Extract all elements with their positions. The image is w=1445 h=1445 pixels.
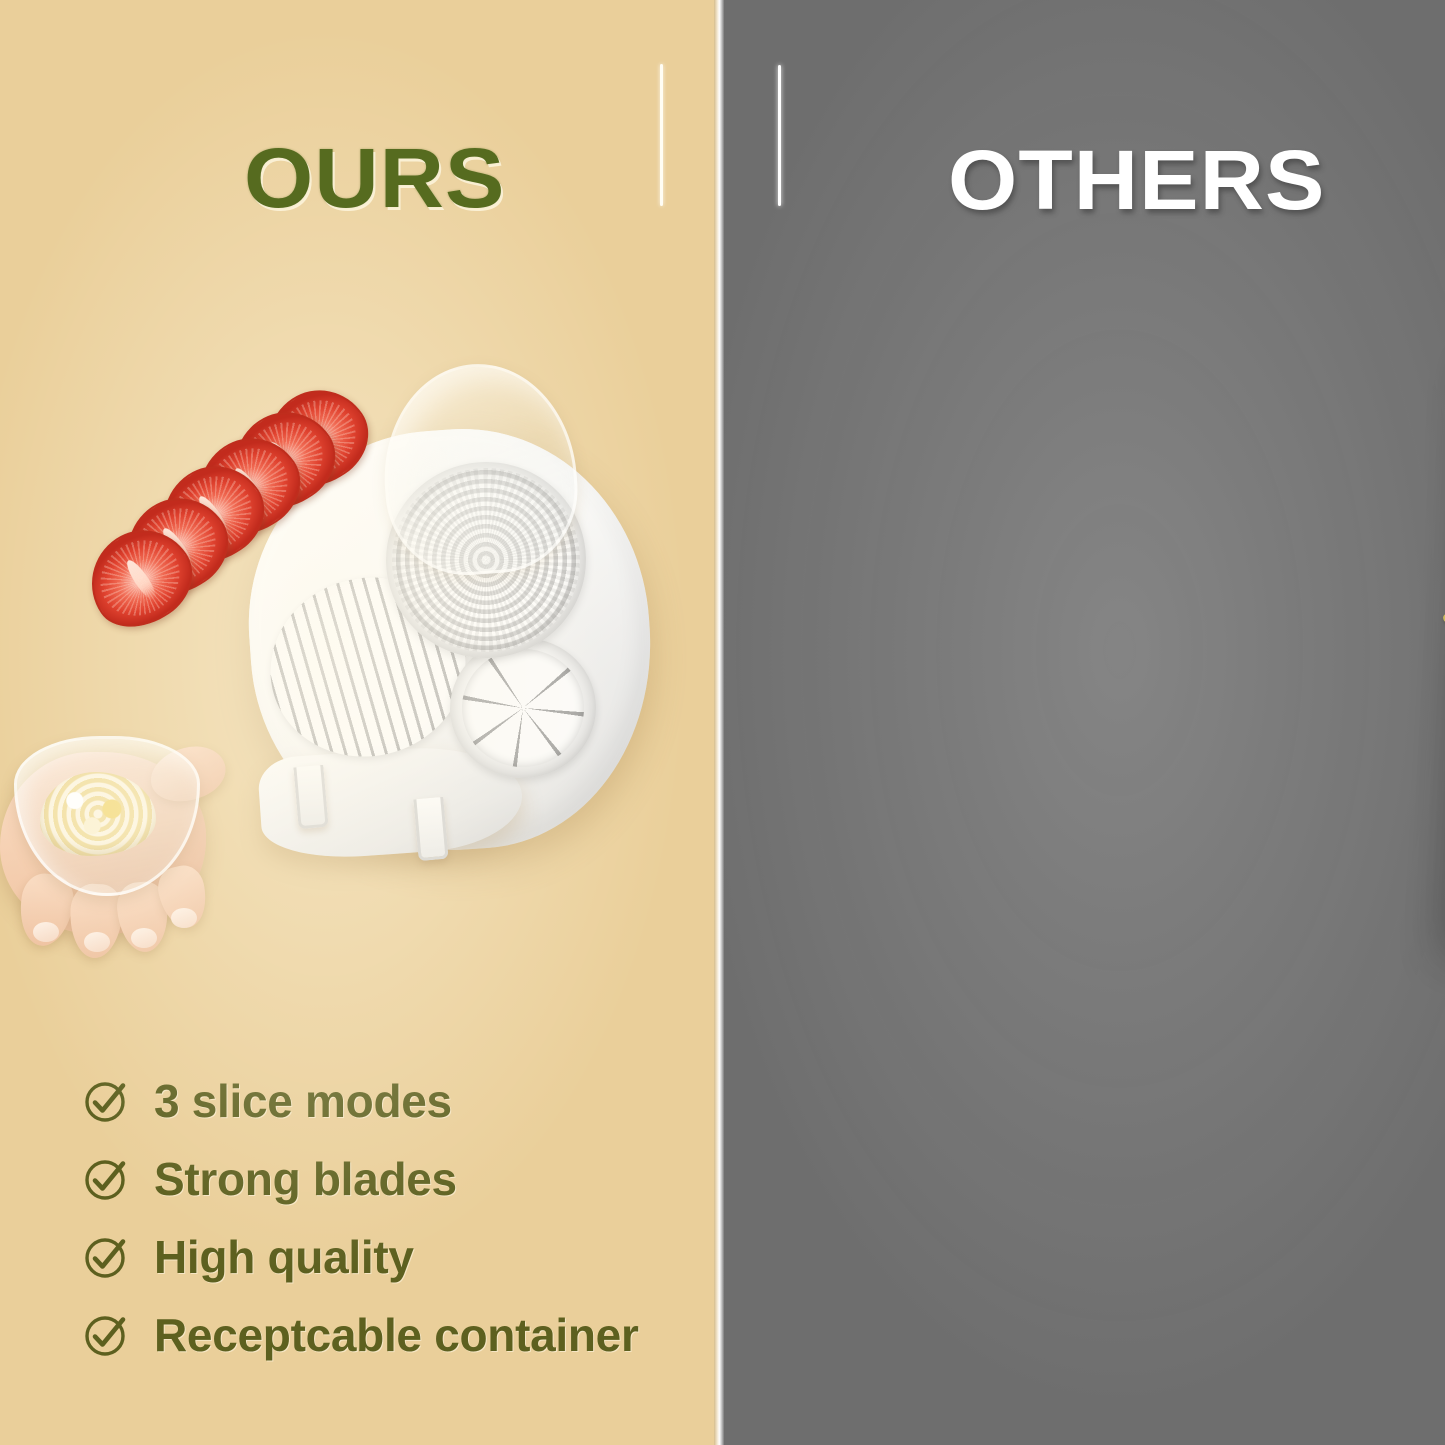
slicer-clip	[413, 797, 448, 861]
fingernail	[84, 932, 110, 952]
hand-holding-bowl	[0, 726, 240, 958]
check-circle-icon	[82, 1312, 128, 1358]
ours-feature-list: 3 slice modes Strong blades High quality	[82, 1062, 639, 1374]
clear-dome-cover	[377, 358, 583, 581]
feature-label: 3 slice modes	[154, 1074, 452, 1128]
fingernail	[131, 928, 157, 948]
check-circle-icon	[82, 1156, 128, 1202]
check-circle-icon	[82, 1078, 128, 1124]
feature-row[interactable]: Strong blades	[82, 1140, 639, 1218]
accent-line-right	[778, 65, 781, 206]
feature-label: High quality	[154, 1230, 414, 1284]
feature-label: Receptcable container	[154, 1308, 639, 1362]
accent-line-left	[660, 64, 663, 206]
check-circle-icon	[82, 1234, 128, 1280]
ours-title: OURS	[244, 130, 506, 227]
comparison-infographic: 3 slice modes Strong blades High quality	[0, 0, 1445, 1445]
fingernail	[171, 908, 197, 928]
feature-row[interactable]: 3 slice modes	[82, 1062, 639, 1140]
feature-row[interactable]: Receptcable container	[82, 1296, 639, 1374]
others-title: OTHERS	[948, 132, 1325, 229]
fingernail	[33, 922, 59, 942]
panel-divider	[714, 0, 724, 1445]
feature-row[interactable]: High quality	[82, 1218, 639, 1296]
feature-label: Strong blades	[154, 1152, 457, 1206]
